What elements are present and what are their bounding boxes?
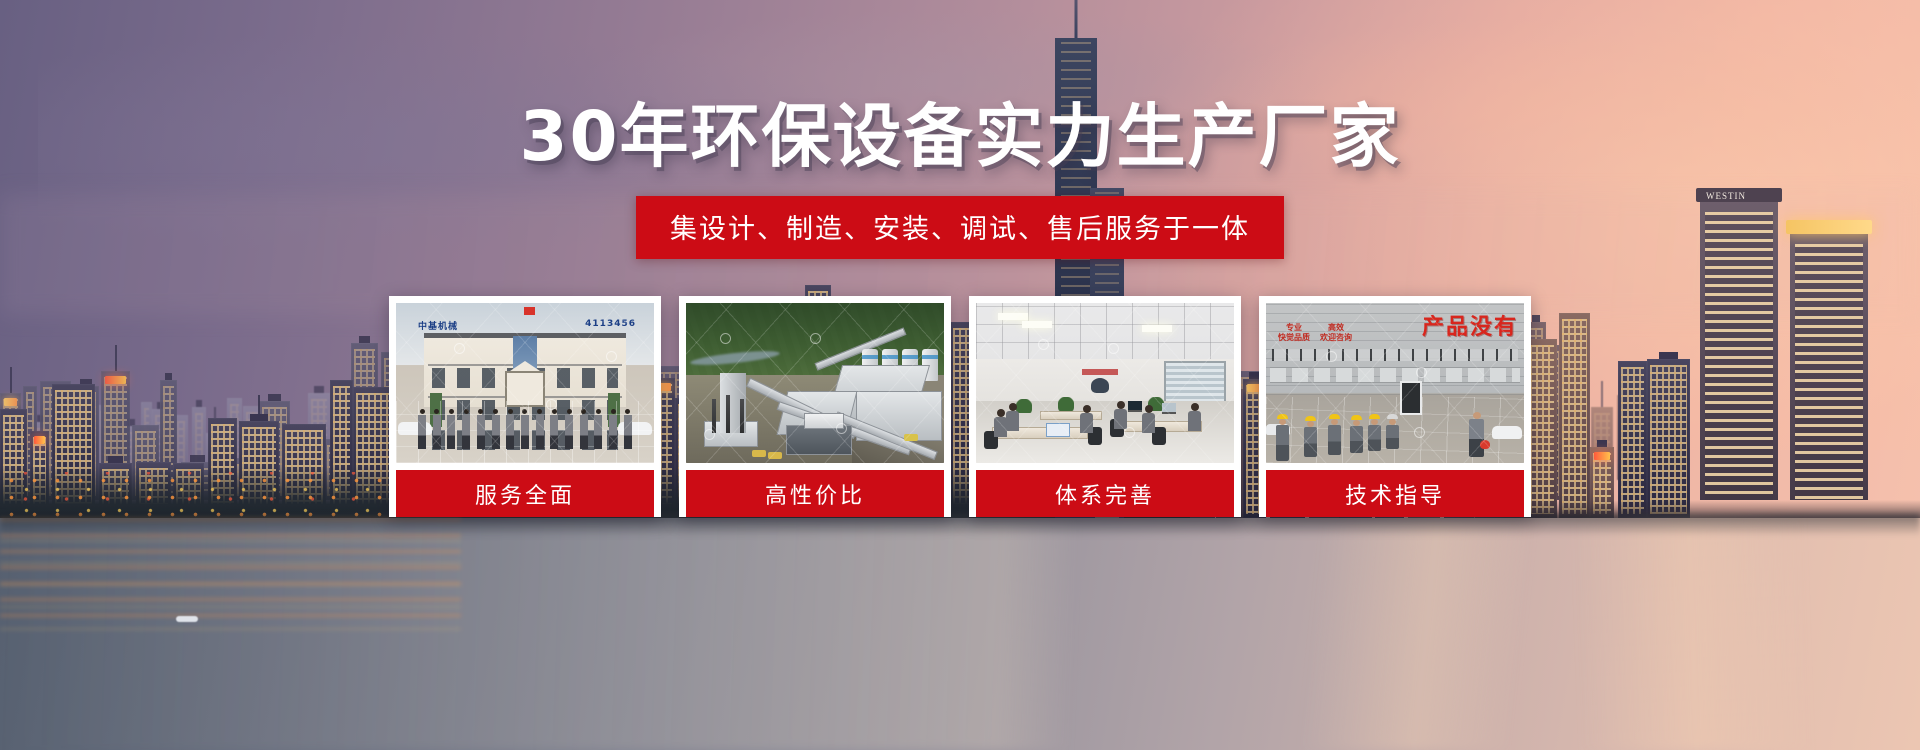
desktop-item	[1046, 423, 1070, 437]
supervisor	[1469, 412, 1484, 457]
feature-card-label: 高性价比	[686, 470, 944, 517]
office-interior-with-staff-at-desks-photo	[976, 303, 1234, 463]
office-worker	[1188, 403, 1201, 431]
office-worker	[1142, 405, 1155, 433]
banner-headline: 30年环保设备实力生产厂家	[519, 103, 1400, 172]
hero-banner: WESTIN 30年环保设备实力生产厂家 集设计、制造、安装、调试、售后服务于一…	[0, 0, 1920, 750]
wall-slogan-main: 产品没有	[1422, 309, 1518, 341]
banner-subtitle: 集设计、制造、安装、调试、售后服务于一体	[636, 196, 1284, 259]
banner-content: 30年环保设备实力生产厂家 集设计、制造、安装、调试、售后服务于一体	[0, 0, 1920, 750]
worker-with-hard-hat	[1368, 414, 1381, 451]
office-worker	[1080, 405, 1093, 433]
wall-slogan-left-1-sub: 快觉品质	[1278, 333, 1310, 342]
building-sign-text: 中基机械	[418, 319, 458, 332]
aerial-view-of-cement-production-plant-photo	[686, 303, 944, 463]
worker-with-hard-hat	[1304, 416, 1317, 457]
company-headquarters-building-with-staff-photo: 中基机械 4113456	[396, 303, 654, 463]
feature-card-label: 体系完善	[976, 470, 1234, 517]
feature-card-label: 技术指导	[1266, 470, 1524, 517]
office-worker	[1114, 401, 1127, 429]
office-ceiling	[976, 303, 1234, 361]
red-helmet	[1480, 440, 1490, 449]
parked-car	[1492, 426, 1522, 439]
national-flag	[524, 307, 535, 315]
banner-subtitle-wrap: 集设计、制造、安装、调试、售后服务于一体	[636, 196, 1284, 259]
workshop-windows	[1270, 367, 1520, 383]
staff-row	[418, 409, 632, 451]
worker-with-hard-hat	[1276, 414, 1289, 461]
feature-card-label: 服务全面	[396, 470, 654, 517]
feature-card[interactable]: 体系完善	[969, 296, 1241, 517]
feature-card[interactable]: 高性价比	[679, 296, 951, 517]
wall-slogan-left-2-sub: 欢迎咨询	[1320, 333, 1352, 342]
wall-poster	[1082, 369, 1118, 397]
workshop-exterior-with-workers-in-hard-hats-photo: 产品没有 专业 快觉品质 高效 欢迎咨询	[1266, 303, 1524, 463]
worker-with-hard-hat	[1350, 415, 1363, 453]
office-worker	[1006, 403, 1019, 431]
wall-slogan-left-1: 专业	[1286, 323, 1302, 332]
worker-with-hard-hat	[1328, 414, 1341, 455]
worker-with-hard-hat	[1386, 414, 1399, 449]
feature-card[interactable]: 产品没有 专业 快觉品质 高效 欢迎咨询	[1259, 296, 1531, 517]
building-phone-text: 4113456	[585, 319, 636, 329]
facade-vent-strip	[1272, 349, 1518, 361]
feature-card-list: 中基机械 4113456	[389, 296, 1531, 517]
wall-slogan-left-2: 高效	[1328, 323, 1344, 332]
feature-card[interactable]: 中基机械 4113456	[389, 296, 661, 517]
